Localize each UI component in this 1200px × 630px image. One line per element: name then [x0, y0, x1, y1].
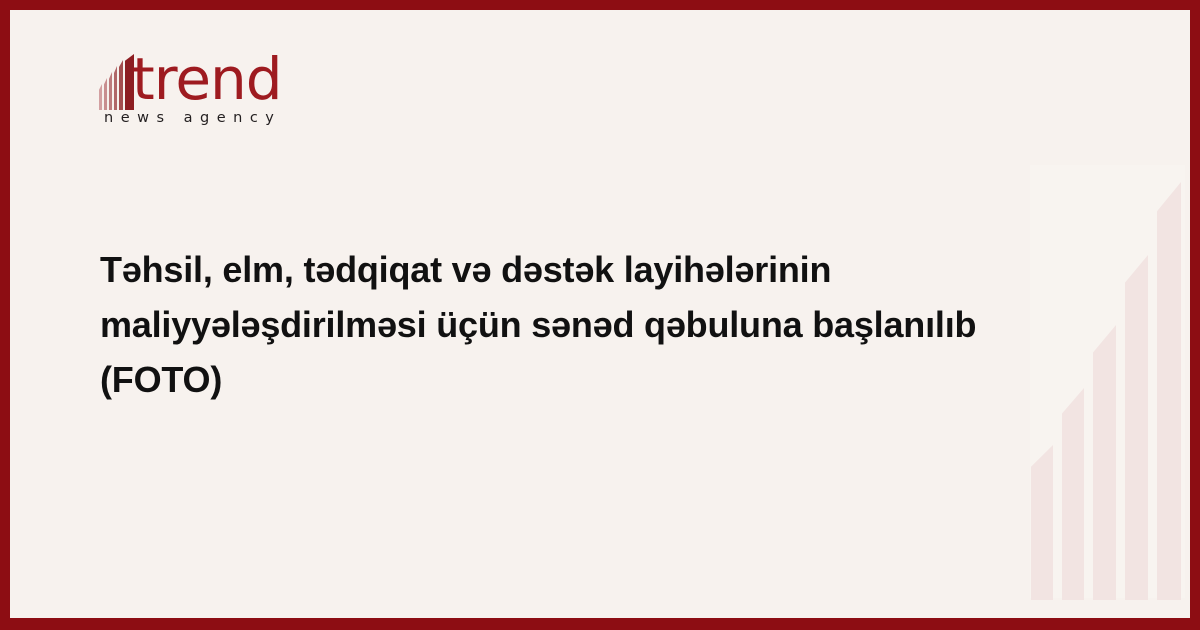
card-canvas: trend news agency Təhsil, elm, tədqiqat …: [10, 10, 1190, 618]
logo-tagline: news agency: [104, 110, 281, 126]
watermark-bar: [1062, 388, 1084, 600]
logo-bar: [104, 78, 107, 110]
watermark-panel: [1030, 165, 1185, 598]
logo-bar: [99, 84, 102, 110]
trend-bars-watermark-icon: [1015, 165, 1185, 600]
trend-logo[interactable]: trend news agency: [98, 48, 328, 138]
logo-bar: [109, 72, 112, 110]
logo-wordmark: trend: [132, 48, 282, 110]
headline-text: Təhsil, elm, tədqiqat və dəstək layihələ…: [100, 242, 1035, 407]
logo-bar: [114, 66, 117, 110]
watermark-bar: [1031, 445, 1053, 600]
news-share-card: trend news agency Təhsil, elm, tədqiqat …: [0, 0, 1200, 630]
watermark-bar: [1125, 255, 1148, 600]
logo-bar: [119, 60, 123, 110]
watermark-bar: [1157, 182, 1181, 600]
logo-primary-row: trend: [98, 48, 328, 110]
watermark-bar: [1093, 325, 1116, 600]
